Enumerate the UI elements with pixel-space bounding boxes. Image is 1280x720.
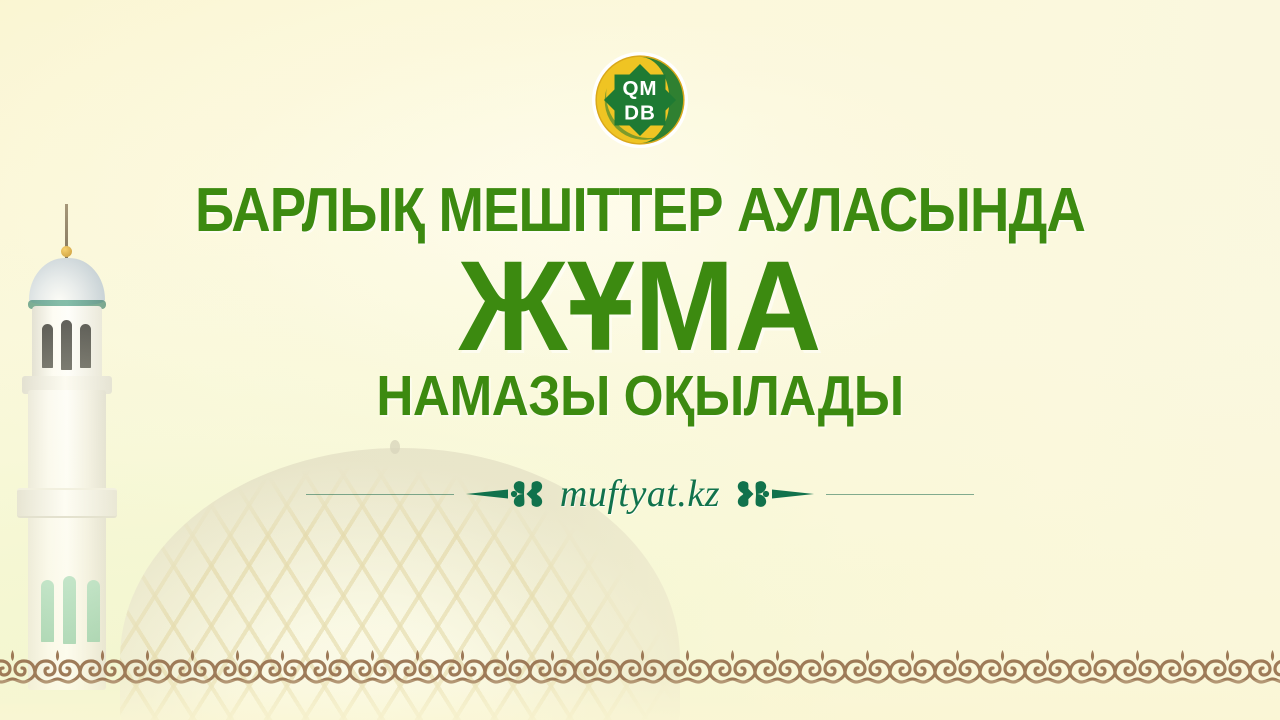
minaret-lower-window xyxy=(41,580,54,642)
footer-divider: muftyat.kz xyxy=(0,466,1280,522)
quatrefoil-ornament-left-icon xyxy=(464,477,548,511)
logo-text-bottom: DB xyxy=(624,102,656,125)
logo-text-top: QM xyxy=(622,77,657,100)
divider-rule-right xyxy=(826,494,974,495)
headline-line-2: ЖҰМА xyxy=(38,248,1241,366)
headline-line-3: НАМАЗЫ ОҚЫЛАДЫ xyxy=(64,368,1216,425)
poster-canvas: QM DB БАРЛЫҚ МЕШІТТЕР АУЛАСЫНДА ЖҰМА НАМ… xyxy=(0,0,1280,720)
quatrefoil-ornament-right-icon xyxy=(732,477,816,511)
qmdb-logo[interactable]: QM DB xyxy=(591,51,689,149)
headline-block: БАРЛЫҚ МЕШІТТЕР АУЛАСЫНДА ЖҰМА НАМАЗЫ ОҚ… xyxy=(0,180,1280,425)
minaret-lower-window xyxy=(87,580,100,642)
minaret-lower-window xyxy=(63,576,76,644)
dome-finial xyxy=(390,440,400,454)
divider-rule-left xyxy=(306,494,454,495)
headline-line-1: БАРЛЫҚ МЕШІТТЕР АУЛАСЫНДА xyxy=(77,180,1203,242)
website-label[interactable]: muftyat.kz xyxy=(548,472,732,516)
bottom-fade xyxy=(0,680,1280,720)
